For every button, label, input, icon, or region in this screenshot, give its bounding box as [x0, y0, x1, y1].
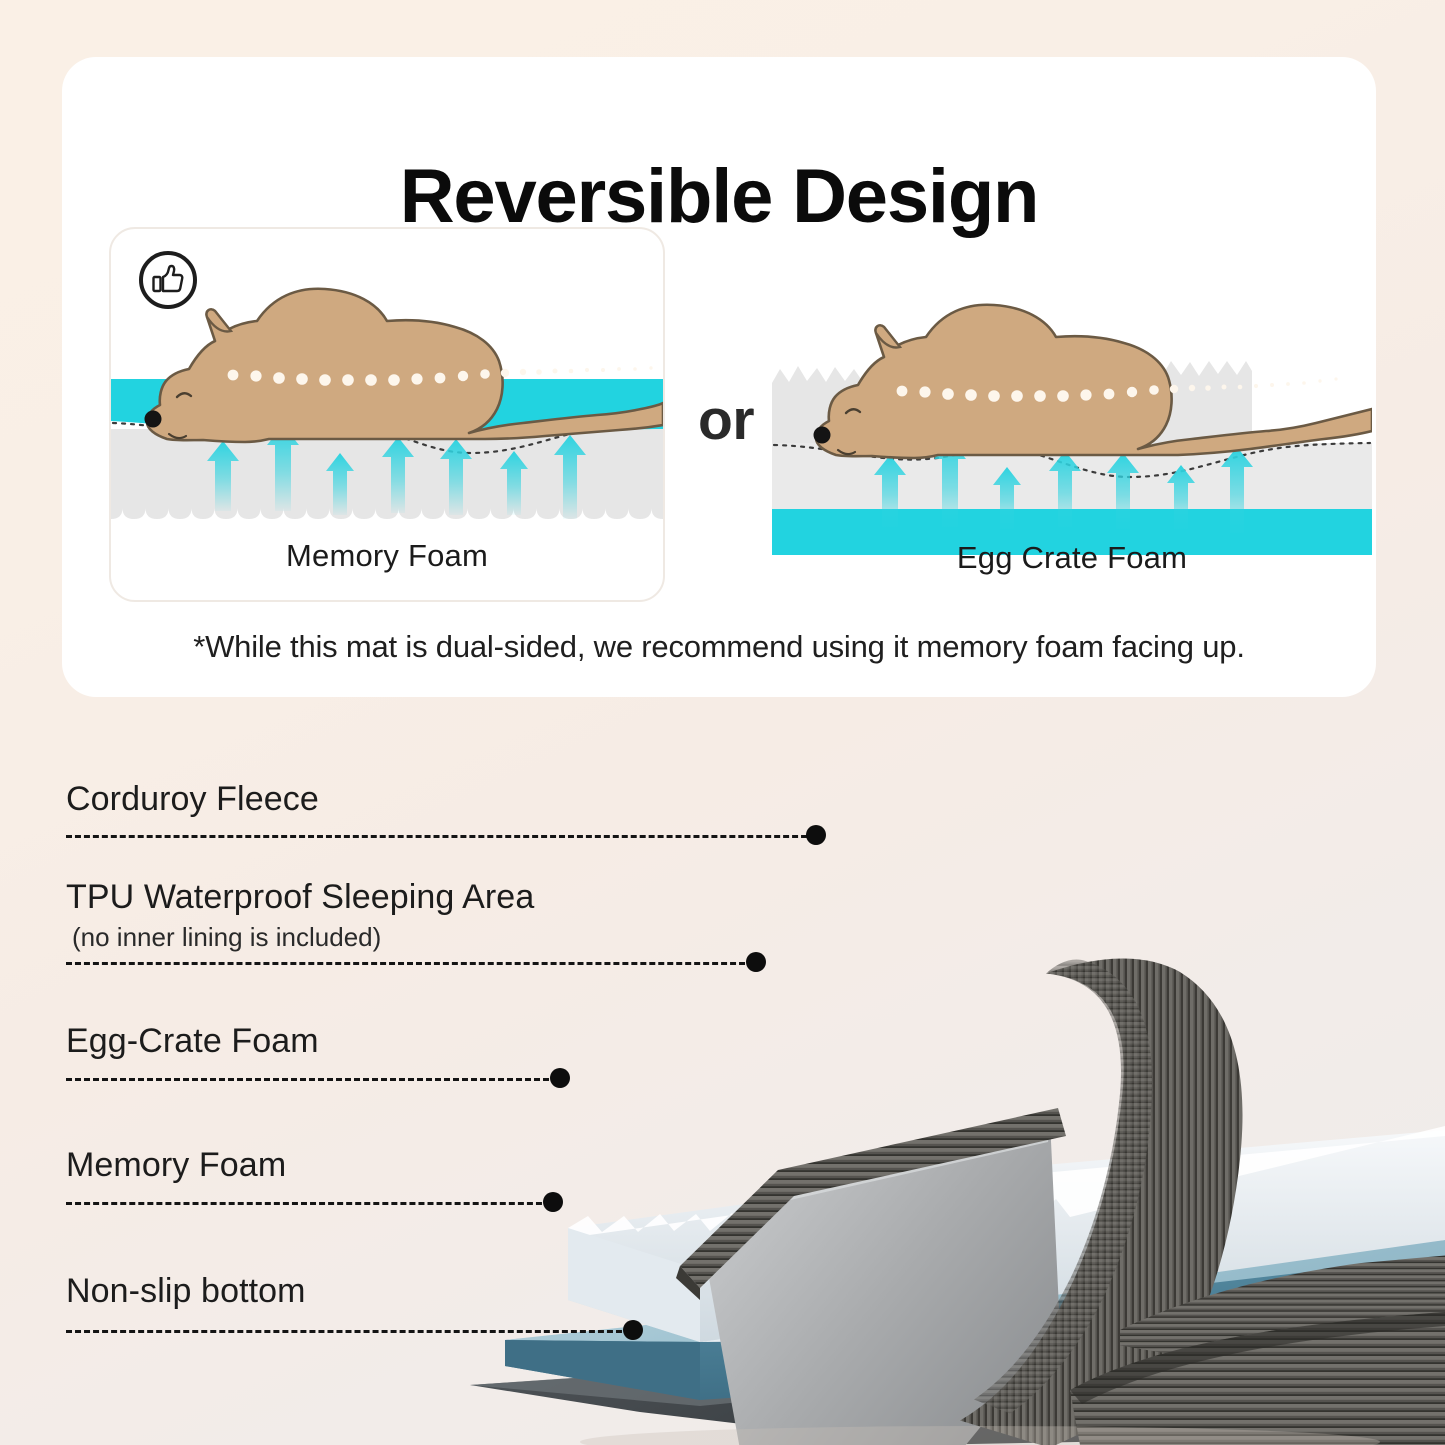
layer-corduroy-fleece-floor	[1120, 1256, 1445, 1376]
layer-corduroy-fleece-wall	[960, 959, 1243, 1445]
leader-line-memory-foam	[66, 1202, 551, 1205]
panel-memory-foam-up: Memory Foam	[109, 227, 665, 602]
leader-dot-corduroy-fleece	[806, 825, 826, 845]
layer-label-corduroy-fleece: Corduroy Fleece	[66, 780, 319, 819]
dog-illustration	[814, 305, 1373, 458]
leader-line-non-slip-bottom	[66, 1330, 631, 1333]
leader-dot-non-slip-bottom	[623, 1320, 643, 1340]
or-separator-label: or	[681, 387, 771, 453]
panel-label-egg-crate-foam: Egg Crate Foam	[772, 540, 1372, 576]
leader-line-corduroy-fleece	[66, 835, 816, 838]
reversible-design-card: Reversible Design	[62, 57, 1376, 697]
leader-line-tpu-waterproof	[66, 962, 754, 965]
egg-crate-layer-bottom	[111, 429, 663, 519]
layer-label-tpu-waterproof: TPU Waterproof Sleeping Area	[66, 878, 534, 917]
layer-non-slip-bottom	[470, 1320, 1445, 1445]
layer-sublabel-tpu-waterproof: (no inner lining is included)	[72, 922, 381, 953]
layer-label-non-slip-bottom: Non-slip bottom	[66, 1272, 306, 1311]
leader-dot-memory-foam	[543, 1192, 563, 1212]
leader-dot-egg-crate-foam	[550, 1068, 570, 1088]
leader-dot-tpu-waterproof	[746, 952, 766, 972]
layer-tpu-waterproof	[705, 1120, 1060, 1445]
thumbs-up-icon	[139, 251, 197, 309]
infographic-page: Reversible Design	[0, 0, 1445, 1445]
leader-line-egg-crate-foam	[66, 1078, 558, 1081]
panel-label-memory-foam: Memory Foam	[111, 538, 663, 574]
layer-corduroy-fleece-rim	[680, 1108, 1066, 1288]
layer-egg-crate-foam	[568, 1130, 1445, 1342]
layer-memory-foam	[505, 1252, 1445, 1400]
layer-label-egg-crate-foam: Egg-Crate Foam	[66, 1022, 319, 1061]
panel-egg-crate-up: Egg Crate Foam	[772, 227, 1372, 602]
footnote-text: *While this mat is dual-sided, we recomm…	[62, 629, 1376, 665]
dog-illustration	[145, 289, 664, 442]
layers-callout-section: Corduroy Fleece TPU Waterproof Sleeping …	[0, 700, 1445, 1445]
layer-label-memory-foam: Memory Foam	[66, 1146, 286, 1185]
